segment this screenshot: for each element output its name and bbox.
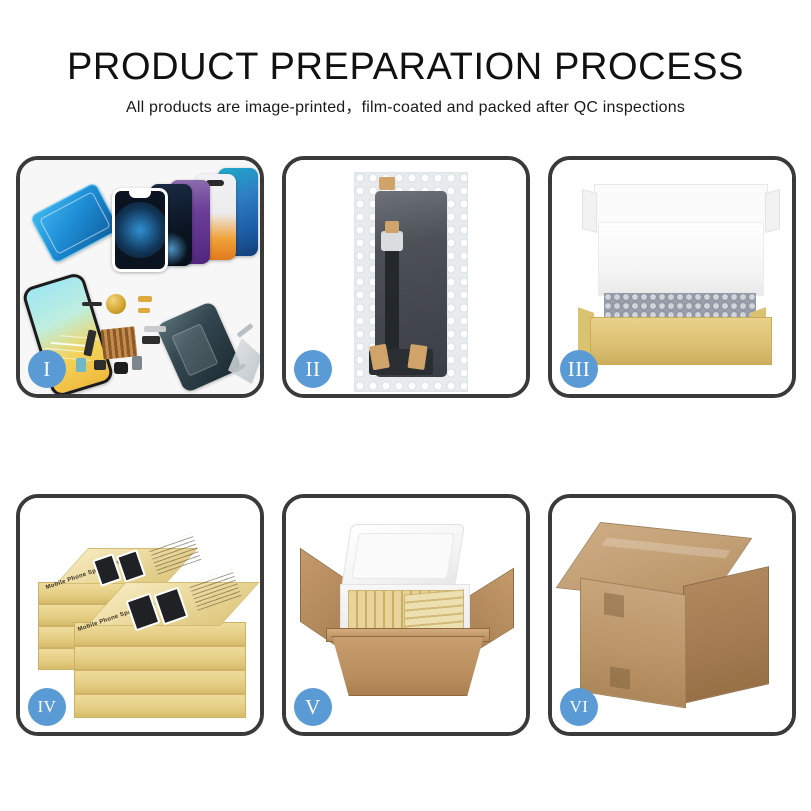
page-subtitle: All products are image-printed，film-coat… (0, 88, 811, 118)
step-badge-1: I (28, 350, 66, 388)
lcd-connector (381, 231, 403, 251)
small-part (144, 326, 166, 332)
step-card-4: Mobile Phone Spare Parts Mobile Phone Sp… (16, 494, 264, 736)
tempered-glass-screen (112, 188, 168, 272)
phone-back-housing (156, 301, 243, 394)
carton-tape-patch (610, 666, 630, 689)
carton-tape-patch (604, 592, 624, 617)
step-card-6: VI (548, 494, 796, 736)
screen-protector-blue (30, 182, 121, 264)
step-card-3: III (548, 156, 796, 398)
carton-body (332, 636, 484, 696)
small-part (236, 323, 253, 338)
gold-box (74, 694, 246, 718)
bubble-wrap-bag (354, 172, 468, 392)
lcd-flex-cable (385, 233, 399, 361)
page-header: PRODUCT PREPARATION PROCESS All products… (0, 0, 811, 118)
box-spec-text-lines (149, 533, 202, 574)
step-badge-6: VI (560, 688, 598, 726)
product-preparation-page: PRODUCT PREPARATION PROCESS All products… (0, 0, 811, 811)
carton-front-face (580, 578, 686, 709)
small-part (114, 362, 128, 374)
adhesive-tape (385, 221, 399, 233)
step-badge-4: IV (28, 688, 66, 726)
speaker-coin-part (106, 294, 126, 314)
step-badge-5: V (294, 688, 332, 726)
step-badge-3: III (560, 350, 598, 388)
small-part (76, 358, 86, 372)
adhesive-tape (407, 344, 427, 370)
tweezers-tool-icon (228, 338, 262, 384)
small-part (132, 356, 142, 370)
small-part (94, 360, 106, 370)
small-part (82, 302, 102, 306)
gold-box (74, 670, 246, 694)
process-steps-grid: I II (16, 156, 796, 736)
small-part (142, 336, 160, 344)
chip-grid-part (101, 326, 138, 359)
adhesive-tape (379, 177, 395, 190)
page-title: PRODUCT PREPARATION PROCESS (0, 0, 811, 88)
step-card-5: V (282, 494, 530, 736)
foam-padding-sheet (598, 222, 764, 296)
foam-box-lid (341, 524, 465, 588)
step-card-1: I (16, 156, 264, 398)
carton-side-face (683, 566, 769, 704)
small-part (138, 308, 150, 313)
gold-box (74, 646, 246, 670)
step-badge-2: II (294, 350, 332, 388)
step-card-2: II (282, 156, 530, 398)
gold-box-stack: Mobile Phone Spare Parts Mobile Phone Sp… (34, 530, 252, 714)
bubble-wrapped-contents (604, 293, 756, 319)
gold-box-front-panel (590, 317, 772, 365)
small-part (138, 296, 152, 302)
